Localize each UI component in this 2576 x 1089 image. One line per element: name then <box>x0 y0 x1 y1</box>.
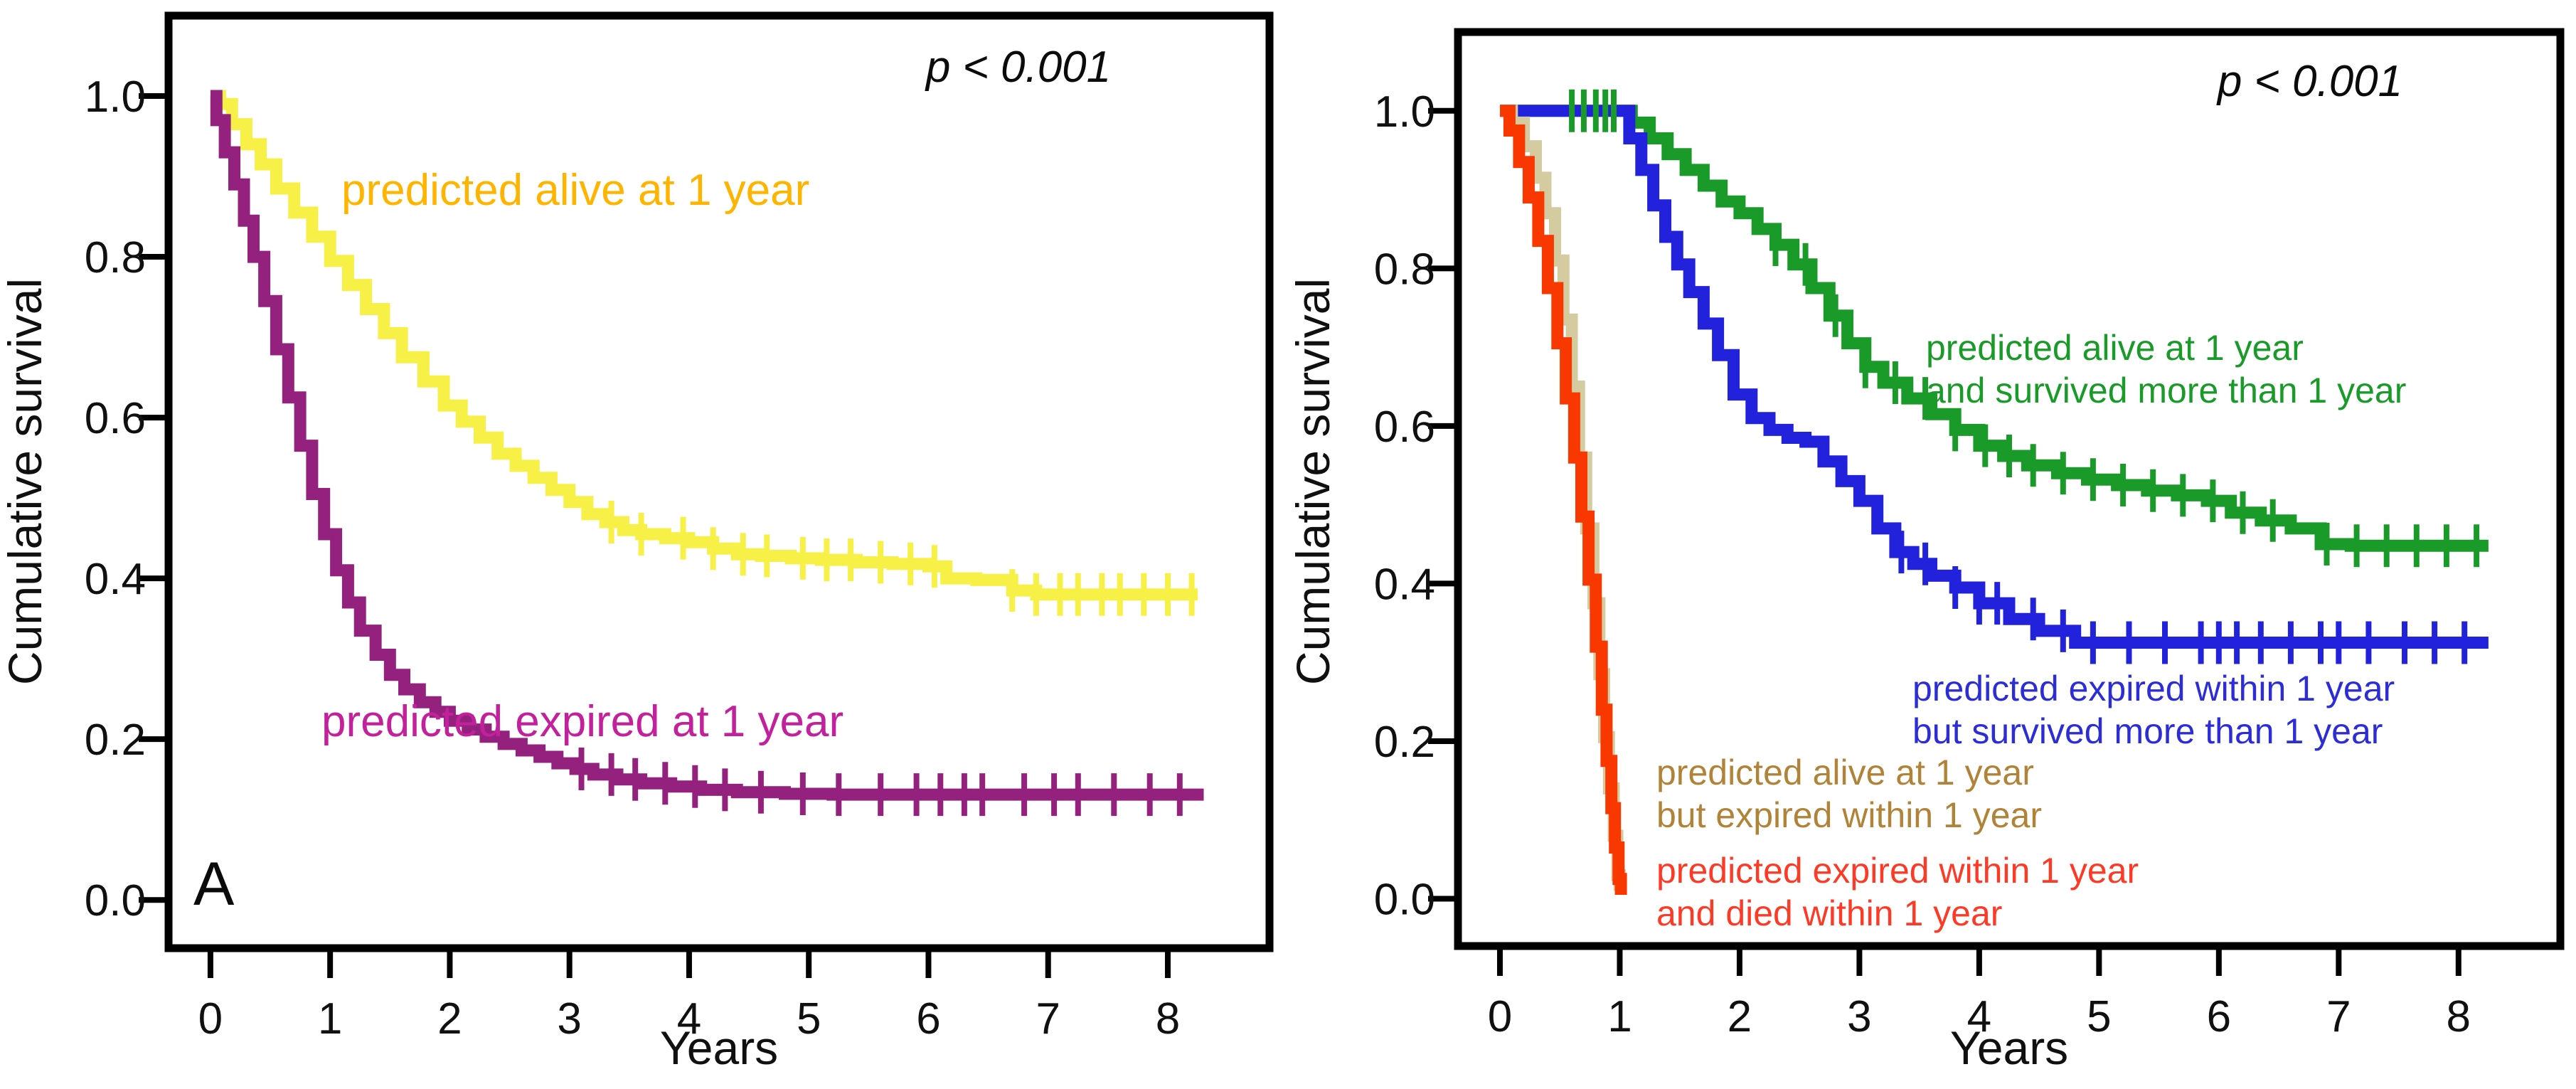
xaxis-title-a: Years <box>660 1021 778 1074</box>
ytick-label-1: 0.2 <box>85 716 146 765</box>
yaxis-title-b: Cumulative survival <box>1288 278 1339 685</box>
panel-b-ytick-labels: 0.00.20.40.60.81.0 <box>1374 87 1435 925</box>
legend-label-a-expired: predicted expired at 1 year <box>321 697 843 746</box>
legend-label-a-alive: predicted alive at 1 year <box>341 166 809 215</box>
xaxis-title-b: Years <box>1950 1021 2068 1074</box>
ytick-label-0: 0.0 <box>1374 876 1435 925</box>
xtick-label-2: 2 <box>437 994 462 1043</box>
xtick-label-6: 6 <box>916 994 940 1043</box>
panel-a: 0.00.20.40.60.81.0 012345678 p < 0.001 A… <box>0 0 1288 1089</box>
panel-a-xtickmarks <box>211 948 1168 978</box>
panel-a-censor <box>582 501 1192 816</box>
panel-letter-a: A <box>193 850 235 918</box>
xtick-label-5: 5 <box>797 994 821 1043</box>
panel-b-ytickmarks <box>1428 111 1458 899</box>
panel-a-plot: 0.00.20.40.60.81.0 012345678 p < 0.001 A… <box>0 0 1288 1089</box>
panel-a-axes <box>169 16 1270 948</box>
yaxis-title-a: Cumulative survival <box>0 278 51 685</box>
legend-label-b-blue-line2: but survived more than 1 year <box>1912 711 2383 751</box>
xtick-label-3: 3 <box>1847 992 1871 1041</box>
xtick-label-8: 8 <box>2447 992 2471 1041</box>
ytick-label-5: 1.0 <box>85 73 146 122</box>
ytick-label-0: 0.0 <box>85 876 146 925</box>
legend-label-b-red-line1: predicted expired within 1 year <box>1656 851 2139 891</box>
xtick-label-1: 1 <box>1607 992 1632 1041</box>
panel-b-xtickmarks <box>1500 946 2459 976</box>
figure-root: 0.00.20.40.60.81.0 012345678 p < 0.001 A… <box>0 0 2576 1089</box>
ytick-label-4: 0.8 <box>1374 245 1435 294</box>
xtick-label-3: 3 <box>557 994 581 1043</box>
pvalue-annotation-a: p < 0.001 <box>925 43 1111 92</box>
xtick-label-7: 7 <box>2326 992 2351 1041</box>
xtick-label-0: 0 <box>198 994 223 1043</box>
xtick-label-2: 2 <box>1728 992 1752 1041</box>
legend-label-b-green-line1: predicted alive at 1 year <box>1926 328 2304 368</box>
km-curve-b-2 <box>1500 111 1619 891</box>
ytick-label-3: 0.6 <box>1374 403 1435 452</box>
legend-label-b-tan-line2: but expired within 1 year <box>1656 795 2042 835</box>
ytick-label-5: 1.0 <box>1374 87 1435 137</box>
panel-b: 0.00.20.40.60.81.0 012345678 p < 0.001 Y… <box>1288 0 2576 1089</box>
legend-label-b-tan-line1: predicted alive at 1 year <box>1656 753 2034 792</box>
plot-frame-a <box>169 16 1270 948</box>
xtick-label-7: 7 <box>1036 994 1060 1043</box>
ytick-label-3: 0.6 <box>85 394 146 443</box>
ytick-label-4: 0.8 <box>85 233 146 282</box>
xtick-label-8: 8 <box>1156 994 1180 1043</box>
ytick-label-2: 0.4 <box>85 555 146 604</box>
panel-a-ytick-labels: 0.00.20.40.60.81.0 <box>85 73 146 925</box>
legend-label-b-red-line2: and died within 1 year <box>1656 893 2002 933</box>
xtick-label-6: 6 <box>2207 992 2231 1041</box>
legend-label-b-blue-line1: predicted expired within 1 year <box>1912 669 2395 708</box>
ytick-label-2: 0.4 <box>1374 560 1435 609</box>
xtick-label-0: 0 <box>1488 992 1512 1041</box>
xtick-label-1: 1 <box>318 994 342 1043</box>
panel-a-ytickmarks <box>139 96 169 900</box>
xtick-label-5: 5 <box>2087 992 2111 1041</box>
panel-b-plot: 0.00.20.40.60.81.0 012345678 p < 0.001 Y… <box>1288 0 2576 1089</box>
legend-label-b-green-line2: and survived more than 1 year <box>1926 371 2406 410</box>
ytick-label-1: 0.2 <box>1374 718 1435 767</box>
pvalue-annotation-b: p < 0.001 <box>2216 57 2402 106</box>
